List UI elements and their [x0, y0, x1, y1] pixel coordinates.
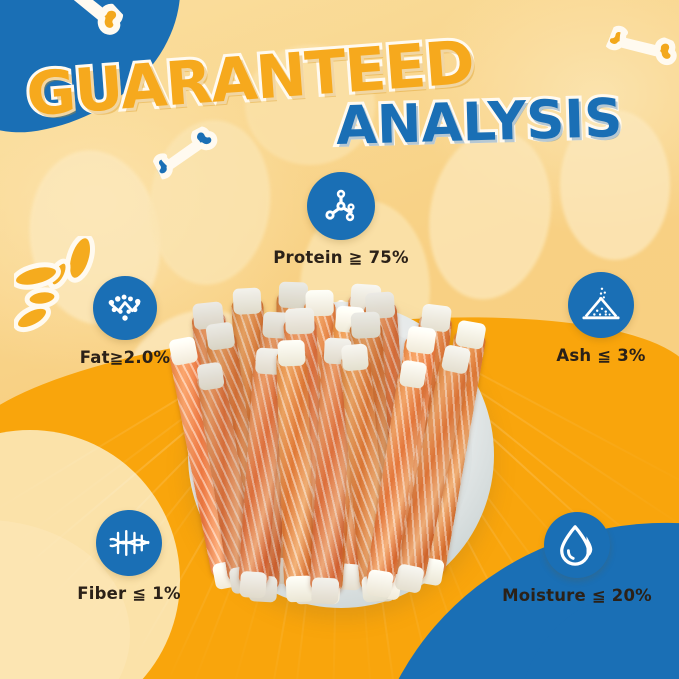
fat-label: Fat≧2.0% — [52, 348, 198, 367]
ash-label: Ash ≦ 3% — [528, 346, 674, 365]
nutrient-ash: Ash ≦ 3% — [528, 272, 674, 365]
dog-treats-bowl-photo — [176, 292, 506, 632]
title-block: GUARANTEED ANALYSIS — [0, 0, 679, 175]
fat-dots-icon — [105, 290, 145, 326]
fiber-label: Fiber ≦ 1% — [56, 584, 202, 603]
title-analysis: ANALYSIS — [335, 88, 623, 157]
nutrient-fat: Fat≧2.0% — [52, 276, 198, 367]
nutrient-protein: Protein ≧ 75% — [268, 172, 414, 267]
nutrient-fiber: Fiber ≦ 1% — [56, 510, 202, 603]
fiber-weave-icon — [108, 525, 150, 561]
protein-icon-circle — [307, 172, 375, 240]
protein-label: Protein ≧ 75% — [268, 248, 414, 267]
water-drop-icon — [557, 524, 597, 566]
fiber-icon-circle — [96, 510, 162, 576]
ash-icon-circle — [568, 272, 634, 338]
ash-mound-icon — [580, 285, 622, 325]
fat-icon-circle — [93, 276, 157, 340]
molecule-icon — [321, 186, 361, 226]
nutrient-moisture: Moisture ≦ 20% — [482, 512, 672, 605]
moisture-label: Moisture ≦ 20% — [482, 586, 672, 605]
guaranteed-analysis-poster: GUARANTEED ANALYSIS — [0, 0, 679, 679]
treat-sticks — [176, 292, 506, 632]
moisture-icon-circle — [544, 512, 610, 578]
